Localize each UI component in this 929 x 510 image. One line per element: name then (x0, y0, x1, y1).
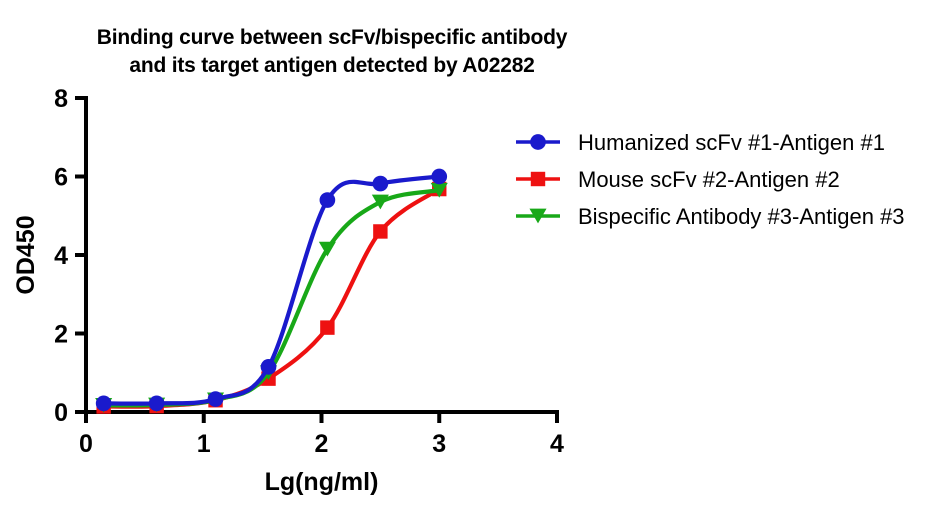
legend-label-2: Mouse scFv #2-Antigen #2 (578, 167, 840, 192)
y-tick-label-2: 2 (54, 321, 68, 349)
legend-marker-2 (531, 172, 545, 186)
data-point-1-1 (149, 396, 165, 412)
x-axis-title: Lg(ng/ml) (265, 468, 379, 496)
y-tick-label-6: 6 (54, 164, 68, 192)
data-point-1-2 (208, 391, 224, 407)
x-tick-label-4: 4 (550, 430, 564, 458)
chart-legend: Humanized scFv #1-Antigen #1Mouse scFv #… (516, 130, 905, 229)
data-point-2-4 (320, 320, 334, 334)
data-point-1-6 (431, 169, 447, 185)
x-tick-label-0: 0 (79, 430, 93, 458)
y-axis-title: OD450 (12, 215, 40, 294)
data-point-1-0 (96, 396, 112, 412)
legend-item-1[interactable]: Humanized scFv #1-Antigen #1 (516, 130, 885, 155)
legend-item-2[interactable]: Mouse scFv #2-Antigen #2 (516, 167, 840, 192)
x-tick-label-2: 2 (315, 430, 329, 458)
x-axis-group: 01234 (79, 412, 564, 458)
binding-curve-chart: 0246801234Lg(ng/ml)OD450Humanized scFv #… (0, 0, 929, 510)
data-point-2-5 (373, 224, 387, 238)
y-tick-label-8: 8 (54, 85, 68, 113)
y-axis-group: 02468 (54, 85, 86, 427)
y-tick-label-4: 4 (54, 242, 68, 270)
data-point-1-5 (373, 176, 389, 192)
data-point-1-4 (320, 192, 336, 208)
legend-marker-1 (530, 134, 546, 150)
legend-item-3[interactable]: Bispecific Antibody #3-Antigen #3 (516, 204, 905, 229)
x-tick-label-1: 1 (197, 430, 211, 458)
legend-label-1: Humanized scFv #1-Antigen #1 (578, 130, 885, 155)
series-2 (96, 182, 446, 414)
data-point-1-3 (261, 359, 277, 375)
data-point-3-4 (319, 242, 336, 257)
chart-page: Binding curve between scFv/bispecific an… (0, 0, 929, 510)
y-tick-label-0: 0 (54, 399, 68, 427)
legend-label-3: Bispecific Antibody #3-Antigen #3 (578, 204, 905, 229)
x-tick-label-3: 3 (432, 430, 446, 458)
